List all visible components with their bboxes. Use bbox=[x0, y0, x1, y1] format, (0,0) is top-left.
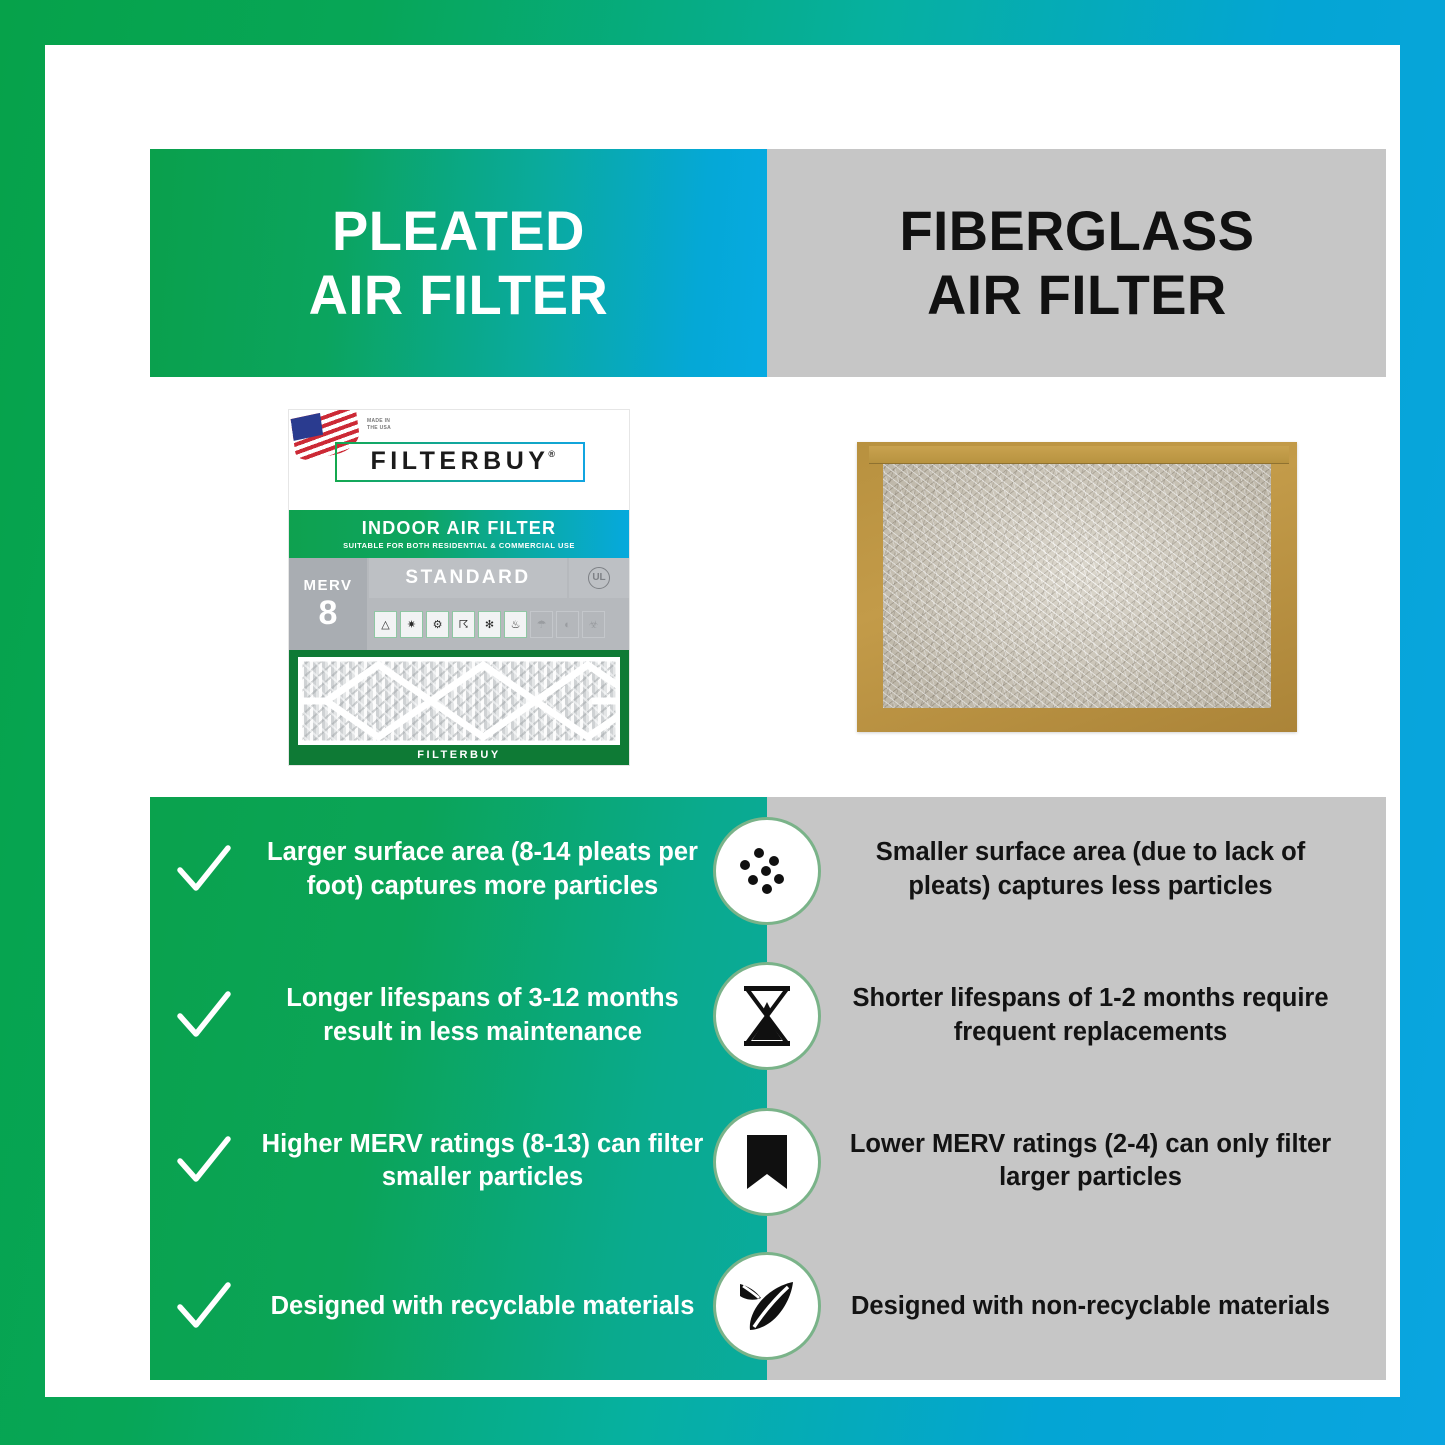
fiberglass-header-title: FIBERGLASS AIR FILTER bbox=[899, 199, 1254, 327]
filter-capability-icon-strip: △ ✷ ⚙ ☈ ✻ ♨ ☂ ◐ ☣ bbox=[369, 600, 629, 650]
smog-icon: ☂ bbox=[530, 611, 553, 638]
grade-label: STANDARD bbox=[405, 567, 530, 589]
brand-name: FILTERBUY® bbox=[371, 447, 550, 476]
fiberglass-image-cell bbox=[768, 377, 1386, 797]
checkmark-icon bbox=[150, 1131, 258, 1191]
box-filter-media-view: FILTERBUY bbox=[289, 650, 629, 765]
fiberglass-filter-photo bbox=[857, 442, 1297, 732]
filterbuy-product-box: MADE IN THE USA FILTERBUY® INDOOR AIR FI… bbox=[289, 410, 629, 765]
white-canvas: PLEATED AIR FILTER FIBERGLASS AIR FILTER bbox=[45, 45, 1400, 1397]
fiberglass-row-2: Shorter lifespans of 1-2 months require … bbox=[767, 943, 1386, 1089]
checkmark-icon bbox=[150, 840, 258, 900]
box-top-section: MADE IN THE USA FILTERBUY® bbox=[289, 410, 629, 510]
dust-mite-icon: ✻ bbox=[478, 611, 501, 638]
merv-rating-cell: MERV 8 bbox=[289, 558, 367, 650]
pleated-row-3-text: Higher MERV ratings (8-13) can filter sm… bbox=[258, 1128, 767, 1195]
fiberglass-drawbacks-column: Smaller surface area (due to lack of ple… bbox=[767, 797, 1386, 1380]
header-row: PLEATED AIR FILTER FIBERGLASS AIR FILTER bbox=[150, 149, 1386, 377]
dust-lint-icon: △ bbox=[374, 611, 397, 638]
grade-cell: STANDARD bbox=[369, 558, 567, 598]
bookmark-icon bbox=[745, 1133, 789, 1191]
outer-gradient-border: PLEATED AIR FILTER FIBERGLASS AIR FILTER bbox=[0, 0, 1445, 1445]
fiberglass-mesh-texture bbox=[883, 464, 1271, 708]
particles-icon bbox=[736, 844, 798, 898]
fiberglass-rows: Smaller surface area (due to lack of ple… bbox=[767, 797, 1386, 1380]
pleated-row-4-text: Designed with recyclable materials bbox=[258, 1290, 767, 1324]
pollen-mold-icon: ✷ bbox=[400, 611, 423, 638]
registered-trademark-icon: ® bbox=[548, 449, 559, 459]
made-in-usa-label: MADE IN THE USA bbox=[367, 418, 391, 433]
fiberglass-row-1: Smaller surface area (due to lack of ple… bbox=[767, 797, 1386, 943]
pleated-rows: Larger surface area (8-14 pleats per foo… bbox=[150, 797, 767, 1380]
fiberglass-row-3-text: Lower MERV ratings (2-4) can only filter… bbox=[767, 1128, 1386, 1195]
virus-icon: ☣ bbox=[582, 611, 605, 638]
fiberglass-header-line2: AIR FILTER bbox=[899, 263, 1254, 327]
merv-label: MERV bbox=[303, 577, 352, 594]
fiberglass-row-4-text: Designed with non-recyclable materials bbox=[767, 1290, 1386, 1324]
hourglass-icon bbox=[739, 985, 795, 1047]
pleated-row-1: Larger surface area (8-14 pleats per foo… bbox=[150, 797, 767, 943]
pleated-image-cell: MADE IN THE USA FILTERBUY® INDOOR AIR FI… bbox=[150, 377, 768, 797]
leaf-icon bbox=[736, 1278, 798, 1334]
pleated-media-texture bbox=[298, 657, 620, 745]
leaf-icon-badge bbox=[713, 1252, 821, 1360]
bacteria-icon: ⚙ bbox=[426, 611, 449, 638]
pleated-row-2: Longer lifespans of 3-12 months result i… bbox=[150, 943, 767, 1089]
pleated-row-2-text: Longer lifespans of 3-12 months result i… bbox=[258, 982, 767, 1049]
fiberglass-row-4: Designed with non-recyclable materials bbox=[767, 1234, 1386, 1380]
box-gradient-band: INDOOR AIR FILTER SUITABLE FOR BOTH RESI… bbox=[289, 510, 629, 558]
merv-value: 8 bbox=[319, 596, 338, 630]
fiberglass-header-line1: FIBERGLASS bbox=[899, 199, 1254, 263]
pleated-row-3: Higher MERV ratings (8-13) can filter sm… bbox=[150, 1089, 767, 1235]
box-spec-section: MERV 8 STANDARD UL △ ✷ bbox=[289, 558, 629, 650]
certification-cell: UL bbox=[569, 558, 629, 598]
checkmark-icon bbox=[150, 1277, 258, 1337]
odor-icon: ◐ bbox=[556, 611, 579, 638]
made-in-line1: MADE IN bbox=[367, 418, 391, 426]
hourglass-icon-badge bbox=[713, 962, 821, 1070]
pleated-benefits-column: Larger surface area (8-14 pleats per foo… bbox=[150, 797, 767, 1380]
fiberglass-row-3: Lower MERV ratings (2-4) can only filter… bbox=[767, 1089, 1386, 1235]
pleated-row-4: Designed with recyclable materials bbox=[150, 1234, 767, 1380]
pleated-row-1-text: Larger surface area (8-14 pleats per foo… bbox=[258, 836, 767, 903]
pleated-header-line2: AIR FILTER bbox=[309, 263, 609, 327]
box-footer: FILTERBUY bbox=[289, 745, 629, 765]
filter-support-grid bbox=[298, 657, 620, 745]
fiberglass-row-1-text: Smaller surface area (due to lack of ple… bbox=[767, 836, 1386, 903]
box-footer-brand: FILTERBUY bbox=[417, 749, 500, 761]
brand-logo-frame: FILTERBUY® bbox=[335, 442, 585, 482]
product-image-row: MADE IN THE USA FILTERBUY® INDOOR AIR FI… bbox=[150, 377, 1386, 797]
box-band-subtitle: SUITABLE FOR BOTH RESIDENTIAL & COMMERCI… bbox=[343, 541, 575, 550]
fiberglass-row-2-text: Shorter lifespans of 1-2 months require … bbox=[767, 982, 1386, 1049]
smoke-icon: ☈ bbox=[452, 611, 475, 638]
pleated-header-title: PLEATED AIR FILTER bbox=[309, 199, 609, 327]
particles-icon-badge bbox=[713, 817, 821, 925]
box-band-title: INDOOR AIR FILTER bbox=[362, 518, 556, 539]
checkmark-icon bbox=[150, 986, 258, 1046]
pet-dander-icon: ♨ bbox=[504, 611, 527, 638]
bookmark-icon-badge bbox=[713, 1108, 821, 1216]
pleated-header-panel: PLEATED AIR FILTER bbox=[150, 149, 767, 377]
ul-certification-icon: UL bbox=[588, 567, 610, 589]
comparison-card: PLEATED AIR FILTER FIBERGLASS AIR FILTER bbox=[150, 149, 1386, 1380]
made-in-line2: THE USA bbox=[367, 425, 391, 433]
fiberglass-header-panel: FIBERGLASS AIR FILTER bbox=[767, 149, 1386, 377]
pleated-header-line1: PLEATED bbox=[309, 199, 609, 263]
